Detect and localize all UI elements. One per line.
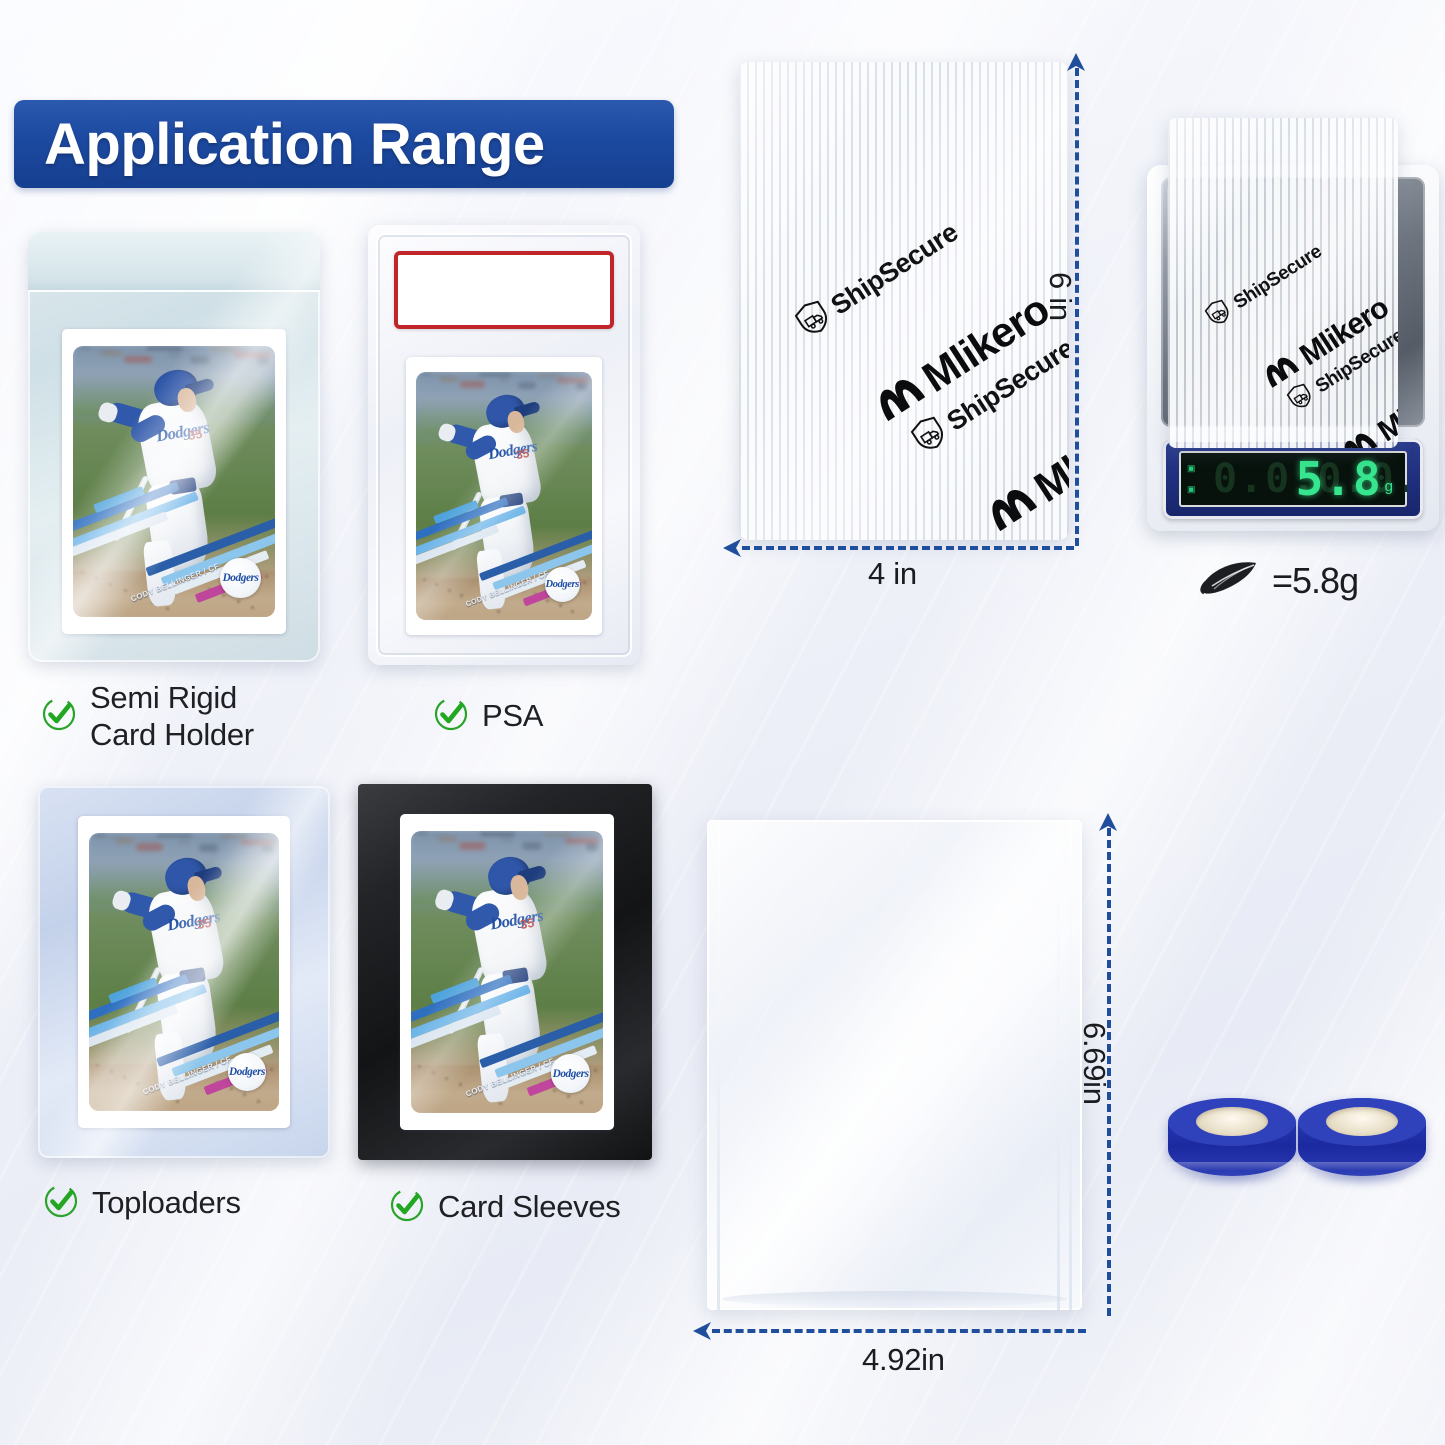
semi-rigid-card-holder: Dodgers 35 CODY BELLINGER / CF Dodgers [28,232,320,662]
team-logo: Dodgers [545,567,580,602]
protector-width-label: 4 in [868,556,917,592]
toploader-holder: Dodgers 35 CODY BELLINGER / CF Dodgers [38,786,330,1158]
scale-display-bezel: ▣ ▣ 0.0.0.0.0 5.8 g [1163,439,1423,519]
card-sleeve-holder: Dodgers 35 CODY BELLINGER / CF Dodgers [358,784,652,1160]
caption-label: PSA [482,698,543,735]
tape-roll-reflection [1176,1173,1289,1187]
psa-label-area [394,251,614,329]
sleeve-fold-edge [717,820,720,1310]
check-circle-icon [432,695,470,738]
protective-sleeve [707,820,1082,1310]
caption-label: Toploaders [92,1185,241,1222]
plastic-protector-sheet: ShipSecure Mlikero ShipSecure Ml [739,62,1069,540]
psa-graded-slab: Dodgers 35 CODY BELLINGER / CF Dodgers [368,225,640,665]
page-title-banner: Application Range [14,100,674,188]
caption-label: Card Sleeves [438,1189,621,1226]
sleeve-gloss [707,820,1082,1310]
check-circle-icon [40,695,78,738]
tape-roll-edge-highlight [1168,1162,1296,1171]
protector-height-arrow-icon [1065,52,1087,74]
tape-roll [1298,1098,1426,1176]
caption-toploaders: Toploaders [42,1182,241,1225]
sleeve-width-guide [712,1329,1086,1333]
weight-equivalence-label: =5.8g [1272,560,1358,602]
caption-line-1: Semi Rigid [90,680,237,715]
caption-label: Semi Rigid Card Holder [90,680,254,753]
weight-equivalence-note: =5.8g [1196,558,1358,603]
card-photo: Dodgers 35 CODY BELLINGER / CF Dodgers [411,831,604,1112]
feather-icon [1196,558,1262,603]
protector-width-guide [742,546,1074,550]
lcd-indicator-icon: ▣ [1187,484,1196,495]
caption-semi-rigid: Semi Rigid Card Holder [40,680,254,753]
tape-roll-core [1326,1107,1398,1137]
tape-roll-edge-highlight [1298,1162,1426,1171]
scale-lcd-display: ▣ ▣ 0.0.0.0.0 5.8 g [1179,451,1407,507]
baseball-card: Dodgers 35 CODY BELLINGER / CF Dodgers [400,814,614,1130]
page-title: Application Range [14,111,545,178]
check-circle-icon [42,1182,80,1225]
check-circle-icon [388,1186,426,1229]
sleeve-width-label: 4.92in [862,1342,945,1378]
holder-gloss [28,232,320,662]
caption-line-2: Card Holder [90,717,254,752]
sleeve-fold-edge [1057,820,1060,1310]
card-photo: Dodgers 35 CODY BELLINGER / CF Dodgers [416,372,592,619]
tape-roll-reflection [1306,1173,1419,1187]
tape-roll-core [1196,1107,1268,1137]
protector-height-label: 6 in [1042,272,1078,321]
tape-roll [1168,1098,1296,1176]
caption-psa: PSA [432,695,543,738]
sleeve-width-arrow-icon [692,1320,714,1342]
scale-weight-value: 5.8 [1296,452,1382,506]
scale-weight-unit: g [1385,478,1393,495]
sleeve-height-label: 6.69in [1076,1022,1112,1105]
lcd-indicator-icon: ▣ [1187,463,1196,474]
team-logo: Dodgers [551,1054,590,1093]
toploader-gloss [38,786,330,1158]
sleeve-fold-edge [1069,820,1072,1310]
sleeve-height-arrow-icon [1097,812,1119,834]
sleeve-bottom-lip [722,1291,1067,1307]
caption-card-sleeves: Card Sleeves [388,1186,621,1229]
protector-width-arrow-icon [722,537,744,559]
baseball-card: Dodgers 35 CODY BELLINGER / CF Dodgers [406,357,602,635]
plastic-protector-on-scale: ShipSecure Mlikero ShipSecure Ml [1168,118,1398,448]
